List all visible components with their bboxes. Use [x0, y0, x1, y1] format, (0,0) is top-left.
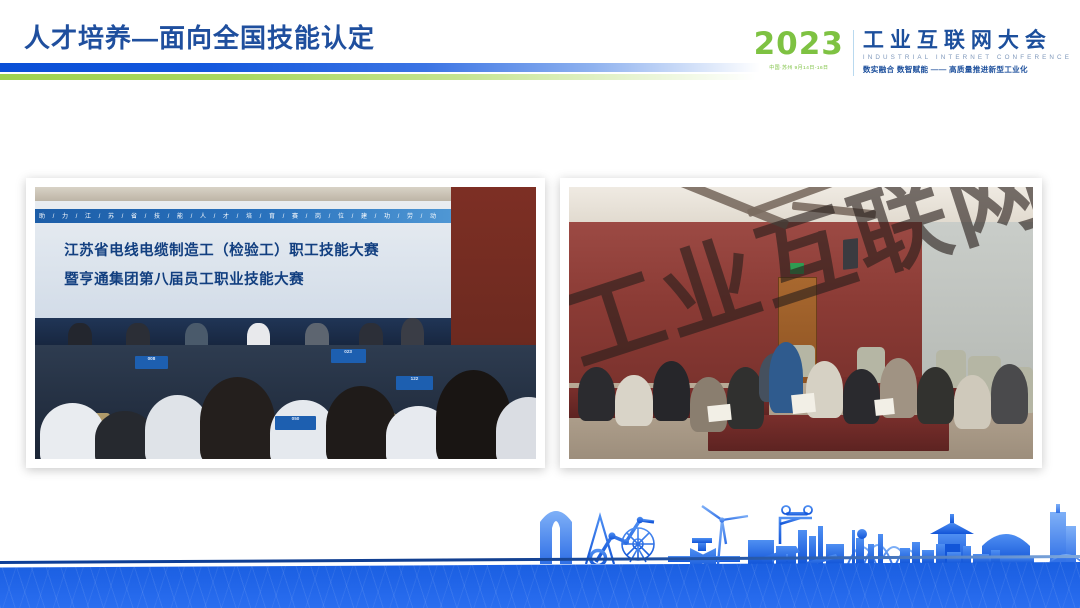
- banner-top-strip: 助 / 力 / 江 / 苏 / 省 / 技 / 能 / 人 / 才 / 培 / …: [35, 209, 451, 223]
- audience-person: [200, 377, 275, 459]
- competition-hall-scene: 助 / 力 / 江 / 苏 / 省 / 技 / 能 / 人 / 才 / 培 / …: [35, 187, 536, 459]
- logo-title-chinese: 工业互联网大会: [863, 29, 1072, 52]
- contestant-bib: 023: [331, 349, 366, 363]
- conference-logo: 2023 中国·苏州 9月14日-16日 工业互联网大会 INDUSTRIAL …: [754, 28, 1072, 82]
- wall-speaker: [843, 238, 858, 270]
- logo-title-english: INDUSTRIAL INTERNET CONFERENCE: [863, 54, 1072, 61]
- photo-left-inner: 助 / 力 / 江 / 苏 / 省 / 技 / 能 / 人 / 才 / 培 / …: [35, 187, 536, 459]
- exam-paper: [707, 403, 732, 422]
- bottom-decoration: [0, 500, 1080, 608]
- logo-slogan: 数实融合 数智赋能 —— 高质量推进新型工业化: [863, 64, 1072, 75]
- slide-header: 人才培养—面向全国技能认定 2023 中国·苏州 9月14日-16日 工业互联网…: [0, 0, 1080, 100]
- exam-candidate: [954, 375, 991, 429]
- logo-year: 2023: [754, 28, 844, 60]
- logo-text-block: 工业互联网大会 INDUSTRIAL INTERNET CONFERENCE 数…: [854, 28, 1072, 75]
- photo-skills-competition-opening: 助 / 力 / 江 / 苏 / 省 / 技 / 能 / 人 / 才 / 培 / …: [26, 178, 545, 468]
- banner-title-line1: 江苏省电线电缆制造工（检验工）职工技能大赛: [64, 239, 422, 260]
- audience-area: 023 122 050 008: [35, 345, 536, 459]
- exam-candidate: [843, 369, 880, 423]
- contestant-bib: 122: [396, 376, 434, 391]
- page-title: 人才培养—面向全国技能认定: [24, 18, 375, 55]
- exam-candidate: [653, 361, 690, 421]
- logo-year-subtitle: 中国·苏州 9月14日-16日: [769, 64, 828, 71]
- exam-candidate: [578, 367, 615, 421]
- photo-written-exam-hall: 工业互联网大会: [560, 178, 1042, 468]
- exit-sign: [790, 263, 804, 274]
- exam-candidate: [917, 367, 954, 424]
- contestant-bib: 008: [135, 356, 168, 369]
- exam-candidate: [615, 375, 652, 427]
- competition-banner: 助 / 力 / 江 / 苏 / 省 / 技 / 能 / 人 / 才 / 培 / …: [35, 201, 451, 318]
- bottom-band-mesh-pattern: [0, 562, 1080, 608]
- contestant-bib: 050: [275, 416, 315, 431]
- photo-right-inner: 工业互联网大会: [569, 187, 1033, 459]
- crane-icon: [780, 518, 812, 544]
- title-rule-green: [0, 74, 756, 80]
- gate-of-the-orient-icon: [540, 511, 572, 564]
- exam-paper: [874, 398, 894, 416]
- exam-hall-scene: 工业互联网大会: [569, 187, 1033, 459]
- title-rule-blue: [0, 63, 760, 72]
- banner-title-line2: 暨亨通集团第八届员工职业技能大赛: [64, 268, 422, 289]
- logo-year-block: 2023 中国·苏州 9月14日-16日: [754, 28, 853, 71]
- exam-candidate: [991, 364, 1028, 424]
- exam-paper: [791, 393, 816, 414]
- hall-ceiling: [35, 187, 451, 201]
- drone-icon: [782, 506, 812, 516]
- skyline-silhouette: [0, 500, 1080, 564]
